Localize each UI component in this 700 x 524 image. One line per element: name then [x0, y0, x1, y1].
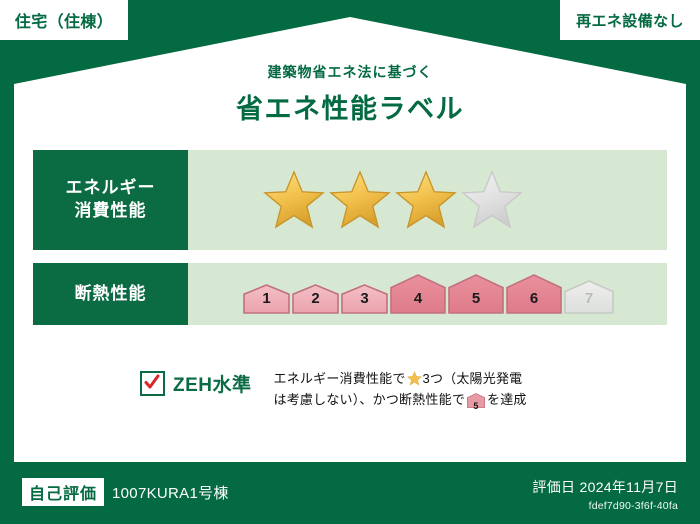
- row-insulation-label-line1: 断熱性能: [75, 283, 147, 306]
- tag-building-type-label: 住宅（住棟）: [15, 8, 113, 32]
- evaluation-id: fdef7d90-3f6f-40fa: [532, 500, 678, 512]
- row-insulation-label: 断熱性能: [33, 263, 188, 325]
- check-icon: [143, 373, 161, 391]
- zeh-description: エネルギー消費性能で3つ（太陽光発電 は考慮しない）、かつ断熱性能で5を達成: [274, 368, 594, 415]
- title-subtitle: 建築物省エネ法に基づく: [0, 62, 700, 82]
- insulation-badge-value: 6: [506, 290, 562, 307]
- zeh-checkbox[interactable]: [140, 371, 165, 396]
- row-energy-body: [188, 150, 667, 250]
- insulation-badge-value: 2: [292, 290, 339, 307]
- insulation-badge-level-3: 3: [341, 284, 388, 314]
- insulation-badge-value: 5: [448, 290, 504, 307]
- row-energy-performance: エネルギー 消費性能: [33, 150, 667, 250]
- footer-bar: 自己評価 1007KURA1号棟 評価日 2024年11月7日 fdef7d90…: [0, 462, 700, 524]
- star-icon-empty: [461, 169, 523, 231]
- zeh-standard-label: ZEH水準: [173, 370, 252, 397]
- insulation-badge-inline-value: 5: [467, 399, 485, 414]
- energy-label-card: 住宅（住棟） 再エネ設備なし 建築物省エネ法に基づく 省エネ性能ラベル ハウスド…: [0, 0, 700, 524]
- insulation-badge-value: 4: [390, 290, 446, 307]
- insulation-badge-value: 1: [243, 290, 290, 307]
- tag-renewable-energy-label: 再エネ設備なし: [576, 10, 684, 31]
- insulation-badge-level-2: 2: [292, 284, 339, 314]
- insulation-badge-level-4: 4: [390, 274, 446, 314]
- star-icon-filled: [395, 169, 457, 231]
- insulation-level-scale: 1234567: [243, 274, 614, 314]
- tag-renewable-energy: 再エネ設備なし: [560, 0, 700, 40]
- star-icon-filled: [263, 169, 325, 231]
- star-rating: [263, 169, 523, 231]
- zeh-desc-part2: は考慮しない）、かつ断熱性能で: [274, 392, 466, 407]
- insulation-badge-level-1: 1: [243, 284, 290, 314]
- page-title: 建築物省エネ法に基づく 省エネ性能ラベル: [0, 62, 700, 126]
- insulation-badge-level-7: 7: [564, 280, 614, 314]
- star-icon-inline: [407, 371, 422, 386]
- insulation-badge-value: 7: [564, 290, 614, 307]
- zeh-desc-part3: を達成: [487, 392, 527, 407]
- zeh-desc-star-count: 3つ（太陽光発電: [423, 371, 523, 386]
- evaluation-date-value: 2024年11月7日: [580, 479, 678, 495]
- row-energy-label-line1: エネルギー: [66, 177, 156, 200]
- row-energy-label: エネルギー 消費性能: [33, 150, 188, 250]
- insulation-badge-inline: 5: [467, 393, 485, 414]
- row-insulation-performance: 断熱性能 1234567: [33, 263, 667, 325]
- building-name: 1007KURA1号棟: [112, 482, 229, 503]
- title-main: 省エネ性能ラベル: [0, 87, 700, 126]
- insulation-badge-level-5: 5: [448, 274, 504, 314]
- evaluation-date-label: 評価日: [532, 479, 575, 495]
- star-icon-filled: [329, 169, 391, 231]
- tag-building-type: 住宅（住棟）: [0, 0, 128, 40]
- evaluation-date: 評価日 2024年11月7日: [532, 477, 678, 497]
- footer-right: 評価日 2024年11月7日 fdef7d90-3f6f-40fa: [532, 477, 678, 512]
- insulation-badge-value: 3: [341, 290, 388, 307]
- row-insulation-body: 1234567: [188, 263, 667, 325]
- insulation-badge-level-6: 6: [506, 274, 562, 314]
- row-energy-label-line2: 消費性能: [75, 200, 147, 223]
- footer-left: 自己評価 1007KURA1号棟: [22, 478, 229, 506]
- zeh-desc-part1: エネルギー消費性能で: [274, 371, 406, 386]
- zeh-section: ZEH水準 エネルギー消費性能で3つ（太陽光発電 は考慮しない）、かつ断熱性能で…: [140, 368, 594, 415]
- self-evaluation-badge: 自己評価: [22, 478, 104, 506]
